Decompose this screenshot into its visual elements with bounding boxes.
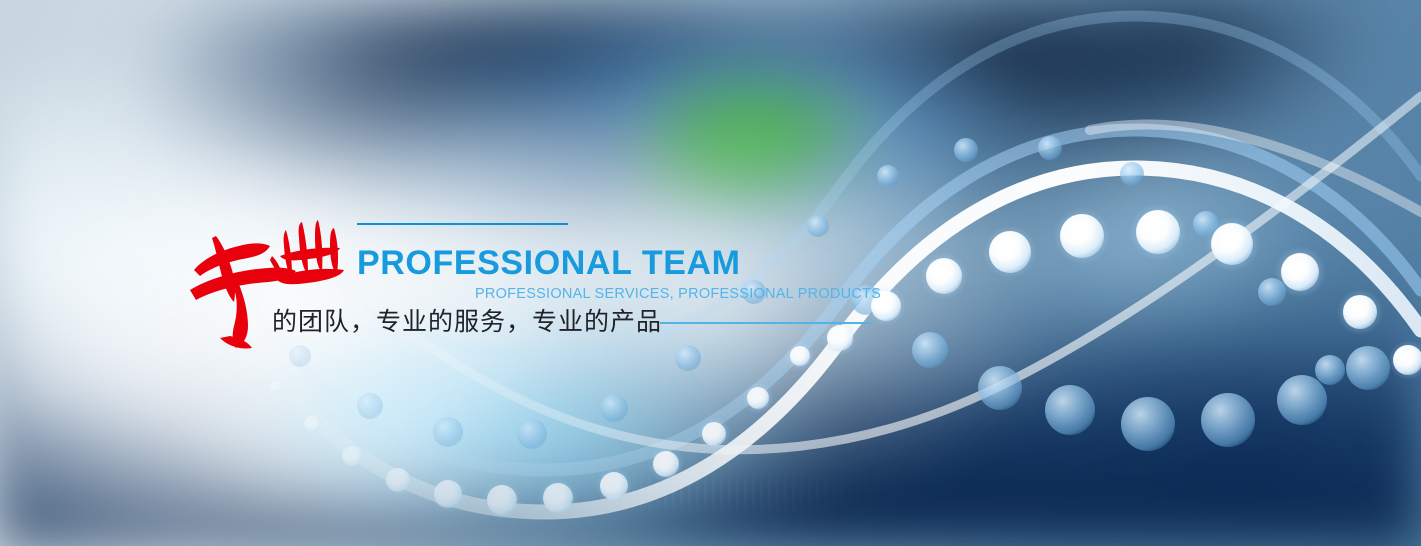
banner-title-english: PROFESSIONAL TEAM (357, 243, 741, 283)
hero-banner: PROFESSIONAL TEAM PROFESSIONAL SERVICES,… (0, 0, 1421, 546)
banner-content: PROFESSIONAL TEAM PROFESSIONAL SERVICES,… (0, 0, 1421, 546)
divider-bottom (660, 322, 872, 324)
banner-subtitle-english: PROFESSIONAL SERVICES, PROFESSIONAL PROD… (475, 285, 881, 303)
banner-title-chinese: 的团队，专业的服务，专业的产品 (272, 306, 662, 338)
divider-top (357, 223, 568, 225)
